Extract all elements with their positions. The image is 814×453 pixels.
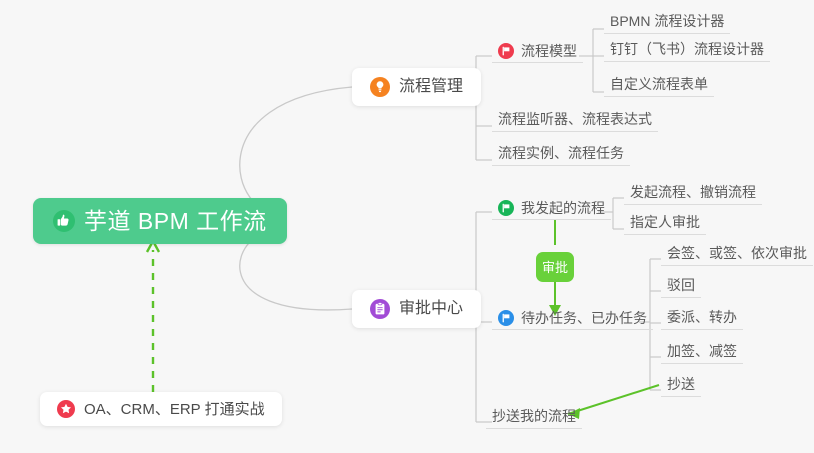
root-label: 芋道 BPM 工作流 — [84, 210, 267, 233]
leaf-label: 发起流程、撤销流程 — [630, 185, 756, 200]
node-label-my-started-process: 我发起的流程 — [521, 201, 605, 216]
branch-label-process-management: 流程管理 — [399, 79, 463, 95]
leaf-label: BPMN 流程设计器 — [610, 14, 724, 29]
node-process-instance[interactable]: 流程实例、流程任务 — [492, 146, 630, 166]
leaf-label: 指定人审批 — [630, 215, 700, 230]
leaf-delegate-transfer[interactable]: 委派、转办 — [661, 310, 743, 330]
leaf-label: 自定义流程表单 — [610, 77, 708, 92]
leaf-countersign[interactable]: 会签、或签、依次审批 — [661, 246, 813, 266]
node-process-listener[interactable]: 流程监听器、流程表达式 — [492, 112, 658, 132]
flag-icon — [498, 43, 514, 59]
star-icon — [57, 400, 75, 418]
flag-icon — [498, 200, 514, 216]
tag-label: 审批 — [542, 261, 568, 274]
branch-node-approval-center[interactable]: 审批中心 — [352, 290, 481, 328]
leaf-label: 驳回 — [667, 278, 695, 293]
node-label-process-model: 流程模型 — [521, 44, 577, 59]
node-cc-my-process[interactable]: 抄送我的流程 — [486, 409, 582, 429]
node-label-integration-practice: OA、CRM、ERP 打通实战 — [84, 402, 265, 417]
leaf-reject[interactable]: 驳回 — [661, 278, 701, 298]
node-process-model[interactable]: 流程模型 — [492, 43, 583, 63]
root-node[interactable]: 芋道 BPM 工作流 — [33, 198, 287, 244]
branch-node-process-management[interactable]: 流程管理 — [352, 68, 481, 106]
tag-approval[interactable]: 审批 — [536, 252, 574, 282]
node-label-process-listener: 流程监听器、流程表达式 — [498, 112, 652, 127]
leaf-label: 钉钉（飞书）流程设计器 — [610, 42, 764, 57]
node-label-todo-done-tasks: 待办任务、已办任务 — [521, 311, 647, 326]
lightbulb-icon — [370, 77, 390, 97]
leaf-start-cancel-process[interactable]: 发起流程、撤销流程 — [624, 185, 762, 205]
mindmap-canvas[interactable]: 芋道 BPM 工作流 流程管理 流程模型 BPMN 流程设计器 钉钉（飞书）流 — [0, 0, 814, 453]
leaf-label: 委派、转办 — [667, 310, 737, 325]
leaf-cc[interactable]: 抄送 — [661, 377, 701, 397]
branch-label-approval-center: 审批中心 — [399, 301, 463, 317]
flag-icon — [498, 310, 514, 326]
leaf-label: 抄送 — [667, 377, 695, 392]
leaf-dingtalk-designer[interactable]: 钉钉（飞书）流程设计器 — [604, 42, 770, 62]
leaf-custom-form[interactable]: 自定义流程表单 — [604, 77, 714, 97]
leaf-label: 加签、减签 — [667, 344, 737, 359]
leaf-add-remove-sign[interactable]: 加签、减签 — [661, 344, 743, 364]
leaf-bpmn-designer[interactable]: BPMN 流程设计器 — [604, 14, 730, 34]
node-integration-practice[interactable]: OA、CRM、ERP 打通实战 — [40, 392, 282, 426]
thumbs-up-icon — [53, 210, 75, 232]
node-label-process-instance: 流程实例、流程任务 — [498, 146, 624, 161]
leaf-designated-approver[interactable]: 指定人审批 — [624, 215, 706, 235]
leaf-label: 会签、或签、依次审批 — [667, 246, 807, 261]
node-my-started-process[interactable]: 我发起的流程 — [492, 200, 611, 220]
node-label-cc-my-process: 抄送我的流程 — [492, 409, 576, 424]
clipboard-icon — [370, 299, 390, 319]
node-todo-done-tasks[interactable]: 待办任务、已办任务 — [492, 310, 653, 330]
